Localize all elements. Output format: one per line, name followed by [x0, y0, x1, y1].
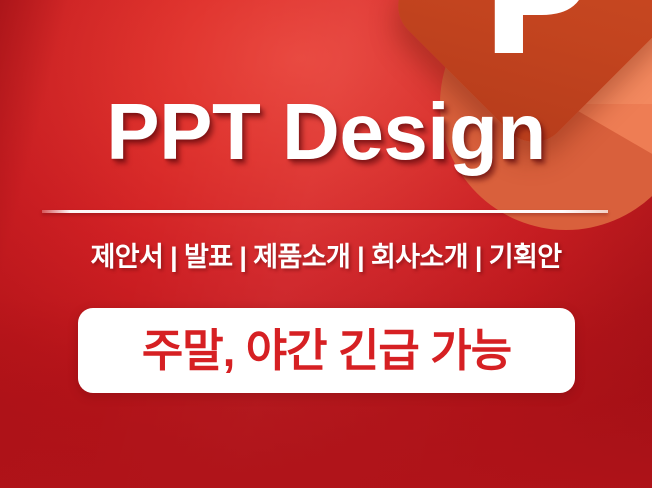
service-list: 제안서 | 발표 | 제품소개 | 회사소개 | 기획안 [0, 235, 652, 274]
page-title: PPT Design [0, 90, 652, 174]
banner-content: PPT Design 제안서 | 발표 | 제품소개 | 회사소개 | 기획안 … [0, 0, 652, 488]
promo-banner: P PPT Design 제안서 | 발표 | 제품소개 | 회사소개 | 기획… [0, 0, 652, 488]
highlight-badge-label: 주말, 야간 긴급 가능 [142, 328, 511, 373]
title-divider [42, 210, 608, 213]
highlight-badge: 주말, 야간 긴급 가능 [78, 308, 575, 393]
